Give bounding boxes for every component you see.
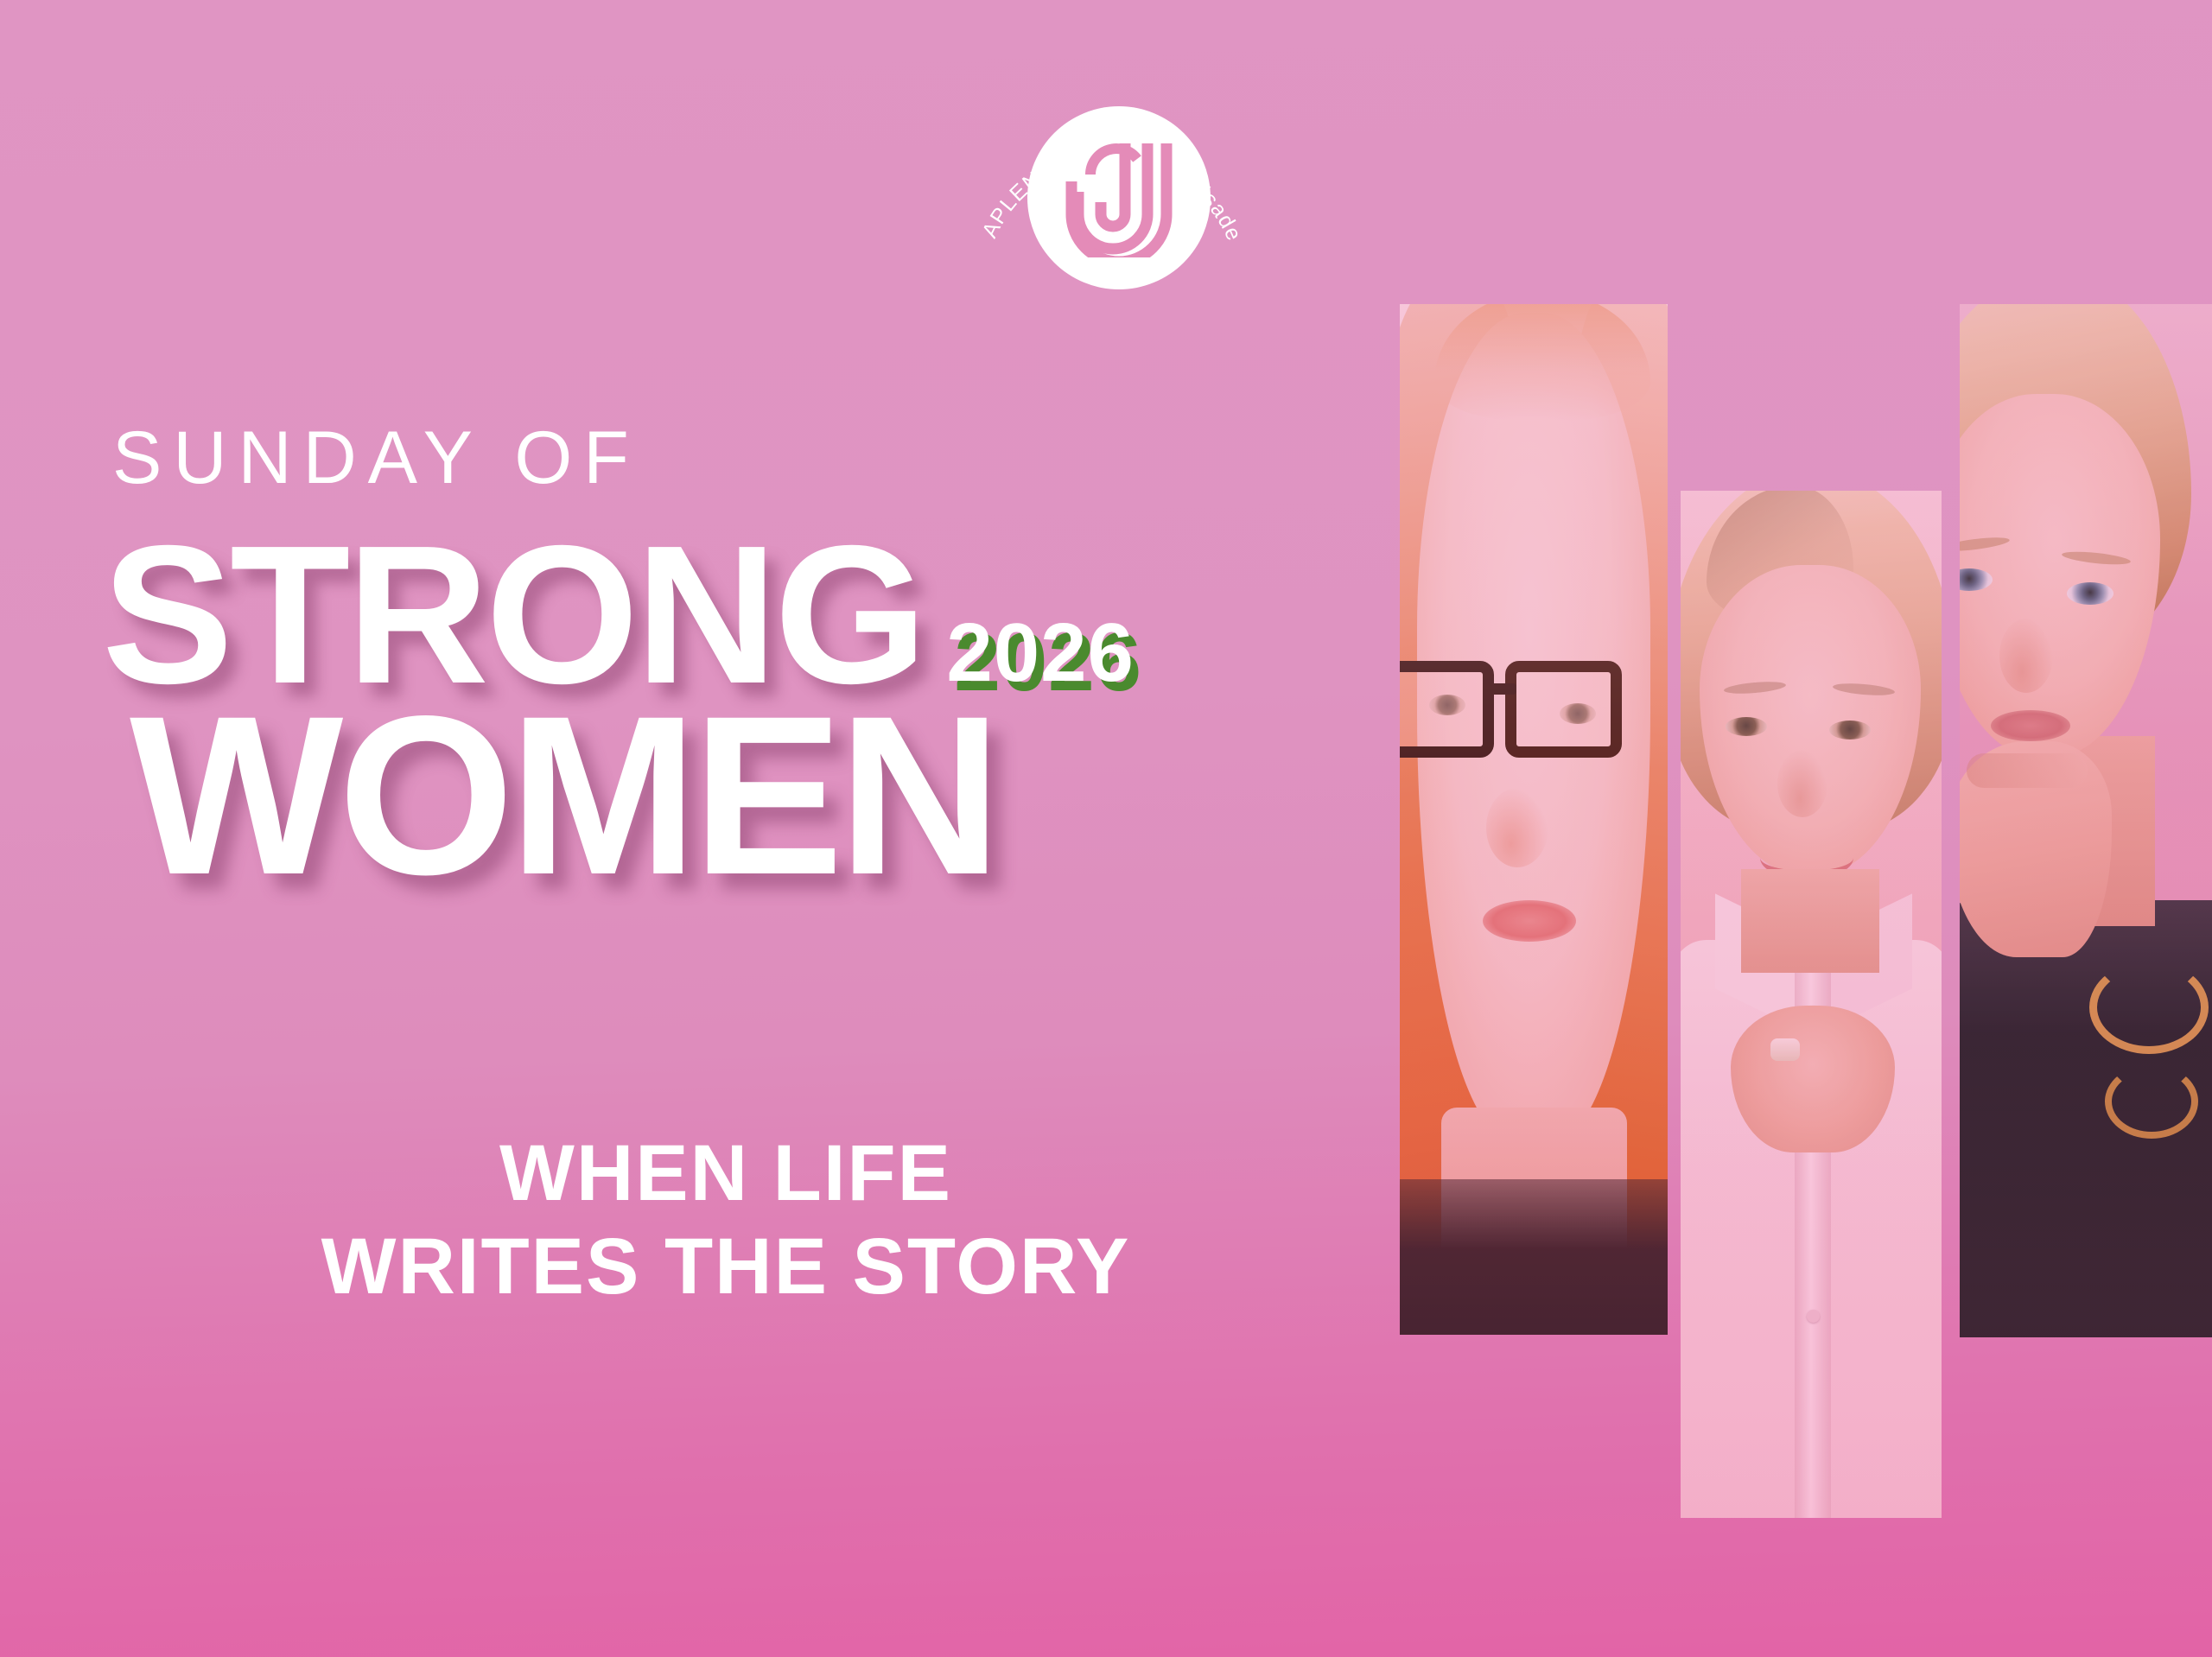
eyebrow-text: SUNDAY OF <box>112 421 640 495</box>
poster-canvas: KAPLEN JCC on the Palisades SUNDAY OF ST… <box>0 0 2212 1657</box>
tagline: WHEN LIFE WRITES THE STORY <box>112 1127 1339 1313</box>
portrait-panel-2 <box>1681 491 1942 1518</box>
jcc-spiral-j-icon <box>1058 140 1180 257</box>
kaplen-jcc-logo: KAPLEN JCC on the Palisades <box>956 67 1267 327</box>
tagline-line-1: WHEN LIFE <box>112 1127 1339 1221</box>
tagline-line-2: WRITES THE STORY <box>112 1221 1339 1314</box>
portrait-1-image <box>1400 304 1668 1335</box>
portrait-2-image <box>1681 491 1942 1518</box>
portrait-3-image <box>1960 304 2212 1337</box>
headline-women: WOMEN <box>130 682 996 909</box>
portrait-panel-1 <box>1400 304 1668 1335</box>
portrait-panel-3 <box>1960 304 2212 1337</box>
